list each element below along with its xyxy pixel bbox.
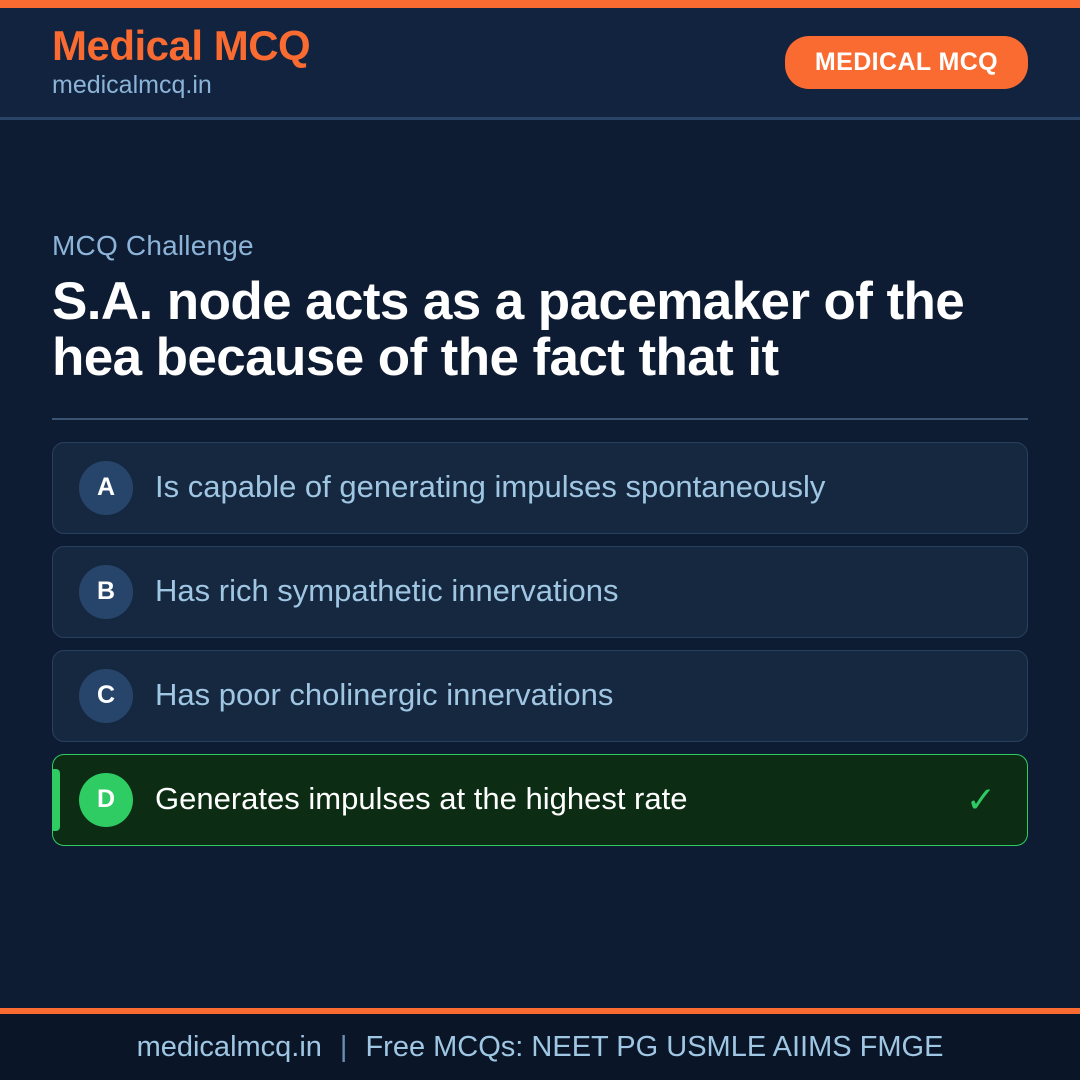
option-d-letter: D xyxy=(79,773,133,827)
brand-title: Medical MCQ xyxy=(52,24,310,68)
question-block: MCQ Challenge S.A. node acts as a pacema… xyxy=(52,230,1028,845)
brand-subtitle: medicalmcq.in xyxy=(52,70,310,101)
question-divider xyxy=(52,418,1028,420)
main-content: MCQ Challenge S.A. node acts as a pacema… xyxy=(0,120,1080,1008)
footer-separator: | xyxy=(340,1031,348,1064)
page-title: S.A. node acts as a pacemaker of the hea… xyxy=(52,274,1028,385)
question-kicker: MCQ Challenge xyxy=(52,230,1028,262)
option-c[interactable]: C Has poor cholinergic innervations ✓ xyxy=(52,650,1028,742)
option-a-letter: A xyxy=(79,461,133,515)
option-c-letter: C xyxy=(79,669,133,723)
page-footer: medicalmcq.in | Free MCQs: NEET PG USMLE… xyxy=(0,1008,1080,1080)
page-header: Medical MCQ medicalmcq.in MEDICAL MCQ xyxy=(0,8,1080,120)
option-a[interactable]: A Is capable of generating impulses spon… xyxy=(52,442,1028,534)
footer-exams-label: Free MCQs: NEET PG USMLE AIIMS FMGE xyxy=(365,1031,943,1064)
option-b[interactable]: B Has rich sympathetic innervations ✓ xyxy=(52,546,1028,638)
option-b-label: Has rich sympathetic innervations xyxy=(155,574,961,609)
option-b-letter: B xyxy=(79,565,133,619)
option-c-label: Has poor cholinergic innervations xyxy=(155,678,961,713)
header-badge: MEDICAL MCQ xyxy=(785,36,1028,89)
option-d-label: Generates impulses at the highest rate xyxy=(155,782,961,817)
option-a-label: Is capable of generating impulses sponta… xyxy=(155,470,961,505)
check-icon: ✓ xyxy=(961,779,1001,821)
top-accent-bar xyxy=(0,0,1080,8)
options-list: A Is capable of generating impulses spon… xyxy=(52,442,1028,846)
option-d[interactable]: D Generates impulses at the highest rate… xyxy=(52,754,1028,846)
brand-block: Medical MCQ medicalmcq.in xyxy=(52,24,310,102)
footer-site-label: medicalmcq.in xyxy=(137,1031,322,1064)
